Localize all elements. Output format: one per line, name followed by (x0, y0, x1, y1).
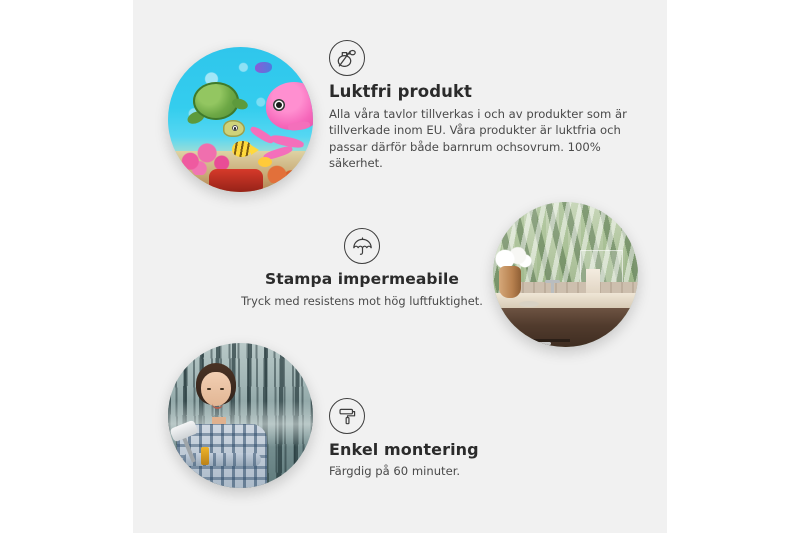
blue-fish (255, 62, 272, 73)
forest-wall-mural (168, 343, 313, 488)
paint-brush (201, 447, 209, 465)
paint-roller-icon (329, 398, 365, 434)
feature-block-odour-free: Luktfri produkt Alla våra tavlor tillver… (329, 40, 629, 172)
feature-block-waterproof-print: Stampa impermeabile Tryck med resistens … (206, 228, 518, 309)
feature-title: Stampa impermeabile (206, 271, 518, 289)
drawer-handle (513, 342, 551, 345)
feature-title: Enkel montering (329, 441, 609, 459)
feature-description: Alla våra tavlor tillverkas i och av pro… (329, 106, 629, 172)
cabinet-handle (603, 338, 606, 345)
yellow-striped-fish (232, 141, 252, 157)
umbrella-icon (344, 228, 380, 264)
feature-block-easy-assembly: Enkel montering Färgdig på 60 minuter. (329, 398, 609, 480)
sea-background (168, 47, 313, 192)
no-odour-spray-bottle-icon (329, 40, 365, 76)
red-shipwreck (209, 169, 263, 192)
product-info-panel: Luktfri produkt Alla våra tavlor tillver… (133, 0, 667, 533)
feature-title: Luktfri produkt (329, 83, 629, 102)
faucet (551, 280, 554, 294)
underwater-cartoon-photo (168, 47, 313, 192)
feature-description: Tryck med resistens mot hög luftfuktighe… (206, 293, 518, 309)
soap-dish (519, 301, 539, 307)
wood-vanity-cabinet (493, 308, 638, 347)
feature-description: Färgdig på 60 minuter. (329, 463, 609, 479)
octopus-tentacle (288, 121, 311, 132)
screenshot-canvas: Luktfri produkt Alla våra tavlor tillver… (0, 0, 800, 533)
woman-paint-roller-forest-photo (168, 343, 313, 488)
